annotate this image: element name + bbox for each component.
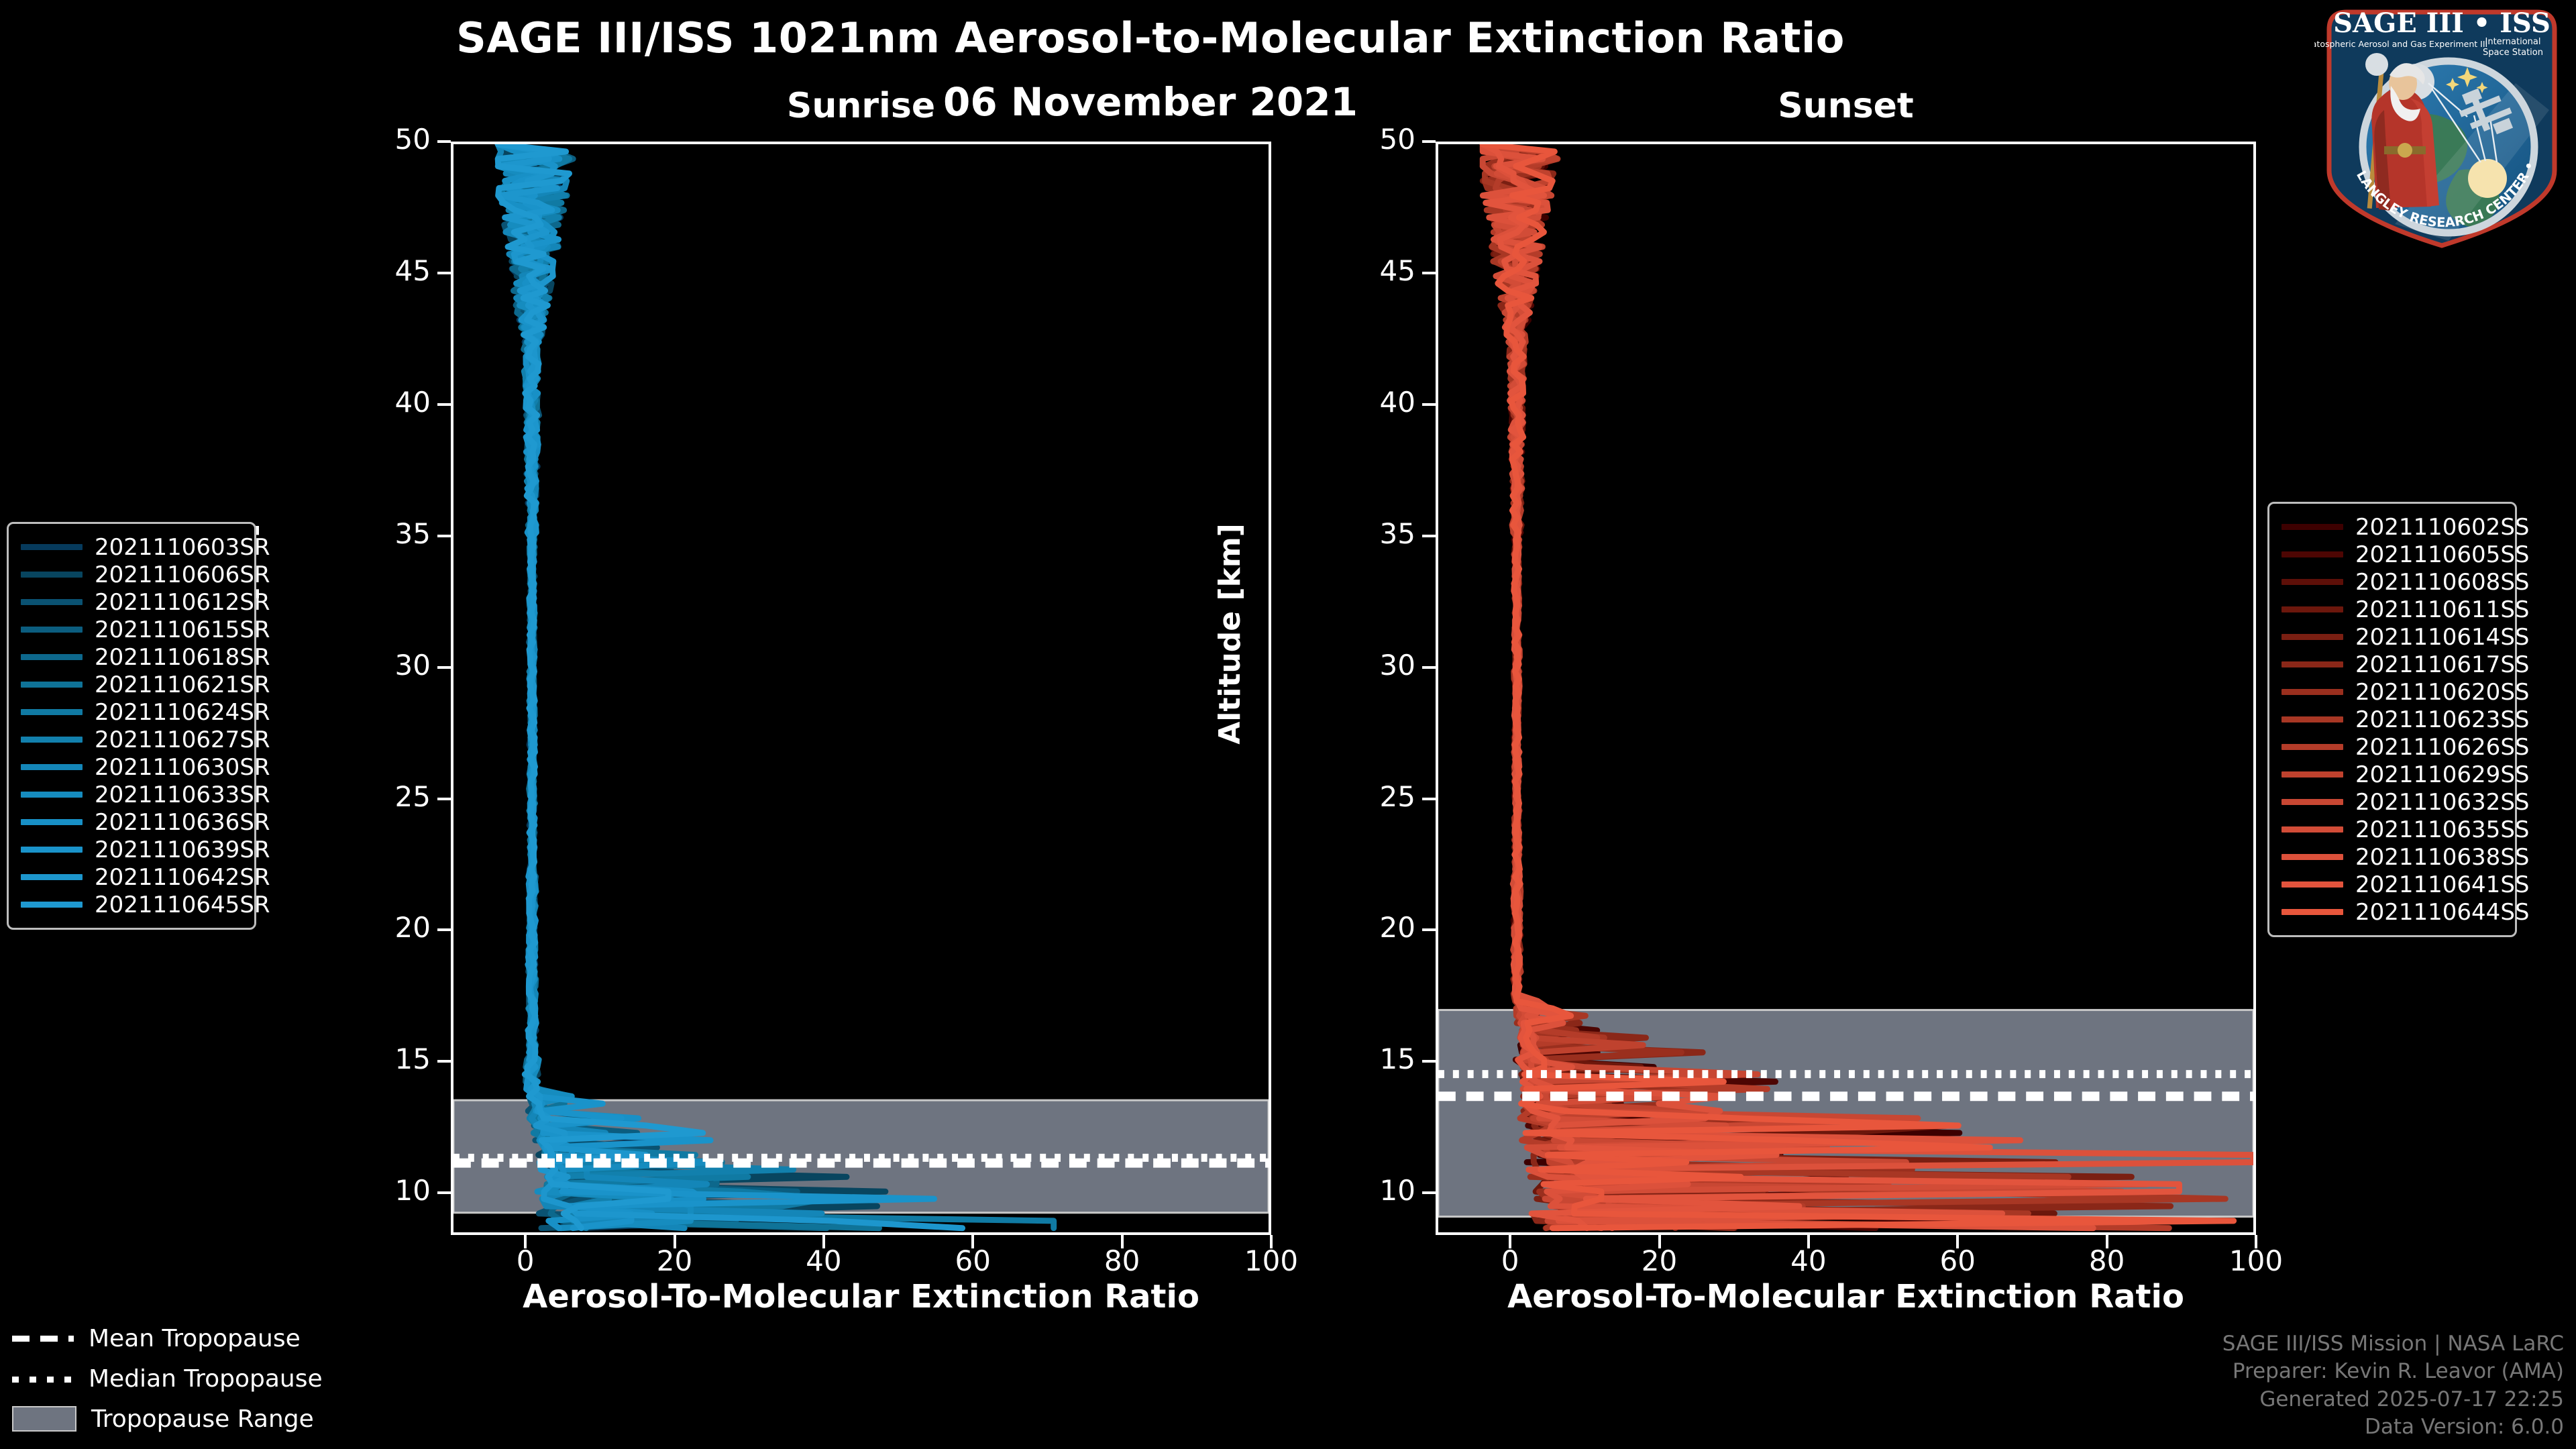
legend-item-label: 2021110629SS <box>2355 761 2529 788</box>
legend-item[interactable]: 2021110630SR <box>21 753 242 781</box>
sunrise-plot-panel <box>451 142 1271 1235</box>
legend-color-swatch <box>2282 716 2343 722</box>
sunset-profile-plot <box>1438 144 2253 1232</box>
legend-color-swatch <box>2282 524 2343 530</box>
x-axis-tick-label: 100 <box>2209 1244 2303 1277</box>
sage-iii-iss-logo: SAGE III • ISS Stratospheric Aerosol and… <box>2314 3 2569 252</box>
y-axis-tick-label: 40 <box>1335 386 1415 419</box>
y-axis-label-sunset: Altitude [km] <box>1213 506 1253 761</box>
x-axis-tick-mark <box>1956 1235 1959 1248</box>
y-axis-tick-label: 35 <box>350 517 431 550</box>
legend-item[interactable]: 2021110636SR <box>21 808 242 836</box>
y-axis-tick-label: 10 <box>1335 1174 1415 1207</box>
y-axis-tick-label: 45 <box>350 254 431 287</box>
y-axis-tick-mark <box>437 403 451 406</box>
legend-item[interactable]: 2021110644SS <box>2282 898 2503 926</box>
logo-subtitle-left: Stratospheric Aerosol and Gas Experiment… <box>2314 39 2487 49</box>
legend-item-label: 2021110608SS <box>2355 569 2529 596</box>
sunrise-panel-title: Sunrise <box>451 86 1271 126</box>
legend-item-label: 2021110642SR <box>95 864 270 891</box>
sunset-legend: 2021110602SS2021110605SS2021110608SS2021… <box>2267 502 2517 937</box>
legend-item[interactable]: 2021110615SR <box>21 616 242 643</box>
tropopause-key: Mean Tropopause Median Tropopause Tropop… <box>12 1318 323 1439</box>
legend-item-label: 2021110641SS <box>2355 871 2529 898</box>
legend-item-label: 2021110632SS <box>2355 789 2529 816</box>
legend-color-swatch <box>21 902 83 908</box>
dotted-line-icon <box>12 1370 74 1387</box>
profile-line <box>498 144 885 1228</box>
tropopause-key-mean: Mean Tropopause <box>12 1318 323 1358</box>
profile-line <box>498 144 962 1228</box>
median-tropopause-label: Median Tropopause <box>89 1365 323 1393</box>
credit-data-version: Data Version: 6.0.0 <box>2222 1413 2564 1441</box>
logo-subtitle-right-2: Space Station <box>2483 48 2543 58</box>
legend-item-label: 2021110636SR <box>95 809 270 836</box>
y-axis-tick-mark <box>437 140 451 143</box>
legend-item-label: 2021110627SR <box>95 727 270 753</box>
x-axis-tick-mark <box>971 1235 974 1248</box>
legend-color-swatch <box>21 654 83 660</box>
x-axis-tick-label: 0 <box>1463 1244 1557 1277</box>
legend-item-label: 2021110615SR <box>95 616 270 643</box>
legend-item[interactable]: 2021110635SS <box>2282 816 2503 843</box>
legend-item[interactable]: 2021110629SS <box>2282 761 2503 788</box>
legend-item-label: 2021110630SR <box>95 754 270 781</box>
y-axis-tick-mark <box>1422 140 1436 143</box>
legend-color-swatch <box>2282 771 2343 777</box>
legend-item[interactable]: 2021110632SS <box>2282 788 2503 816</box>
x-axis-tick-mark <box>1509 1235 1511 1248</box>
legend-color-swatch <box>21 737 83 743</box>
profile-line <box>498 144 934 1228</box>
y-axis-tick-label: 25 <box>350 780 431 813</box>
legend-item-label: 2021110621SR <box>95 672 270 698</box>
x-axis-tick-label: 80 <box>1075 1244 1169 1277</box>
y-axis-tick-mark <box>1422 1060 1436 1063</box>
x-axis-tick-mark <box>1807 1235 1810 1248</box>
sunset-plot-panel <box>1436 142 2256 1235</box>
x-axis-tick-label: 80 <box>2060 1244 2154 1277</box>
y-axis-tick-mark <box>437 798 451 800</box>
x-axis-tick-mark <box>1270 1235 1273 1248</box>
y-axis-tick-label: 35 <box>1335 517 1415 550</box>
logo-title: SAGE III • ISS <box>2333 7 2551 39</box>
legend-item-label: 2021110626SS <box>2355 734 2529 761</box>
y-axis-tick-mark <box>1422 403 1436 406</box>
page-title: SAGE III/ISS 1021nm Aerosol-to-Molecular… <box>0 13 2301 62</box>
legend-item-label: 2021110623SS <box>2355 706 2529 733</box>
x-axis-tick-mark <box>1121 1235 1124 1248</box>
sunset-panel-title: Sunset <box>1436 86 2256 126</box>
y-axis-tick-mark <box>1422 666 1436 669</box>
legend-item[interactable]: 2021110624SR <box>21 698 242 726</box>
y-axis-tick-mark <box>1422 798 1436 800</box>
legend-item[interactable]: 2021110617SS <box>2282 651 2503 678</box>
legend-item-label: 2021110612SR <box>95 589 270 616</box>
legend-color-swatch <box>21 874 83 880</box>
y-axis-tick-label: 30 <box>350 649 431 682</box>
legend-item-label: 2021110602SS <box>2355 514 2529 541</box>
y-axis-tick-label: 50 <box>350 123 431 156</box>
legend-item[interactable]: 2021110603SR <box>21 533 242 561</box>
legend-item[interactable]: 2021110626SS <box>2282 733 2503 761</box>
y-axis-tick-mark <box>437 272 451 274</box>
x-axis-tick-mark <box>822 1235 825 1248</box>
gray-band-icon <box>12 1406 76 1432</box>
legend-item[interactable]: 2021110618SR <box>21 643 242 671</box>
legend-item[interactable]: 2021110611SS <box>2282 596 2503 623</box>
legend-color-swatch <box>2282 661 2343 667</box>
logo-sun <box>2468 159 2507 198</box>
legend-item-label: 2021110645SR <box>95 892 270 918</box>
dashed-line-icon <box>12 1330 74 1347</box>
sunrise-legend: 2021110603SR2021110606SR2021110612SR2021… <box>7 522 256 930</box>
legend-item[interactable]: 2021110621SR <box>21 671 242 698</box>
legend-color-swatch <box>21 792 83 798</box>
legend-color-swatch <box>2282 909 2343 915</box>
legend-item[interactable]: 2021110612SR <box>21 588 242 616</box>
credit-mission: SAGE III/ISS Mission | NASA LaRC <box>2222 1330 2564 1358</box>
legend-item-label: 2021110605SS <box>2355 541 2529 568</box>
legend-item[interactable]: 2021110623SS <box>2282 706 2503 733</box>
y-axis-tick-label: 45 <box>1335 254 1415 287</box>
tropopause-key-range: Tropopause Range <box>12 1399 323 1439</box>
legend-color-swatch <box>2282 579 2343 585</box>
y-axis-tick-mark <box>1422 928 1436 931</box>
sunrise-profile-plot <box>453 144 1269 1232</box>
legend-item-label: 2021110606SR <box>95 561 270 588</box>
credit-generated: Generated 2025-07-17 22:25 <box>2222 1386 2564 1413</box>
x-axis-tick-label: 100 <box>1224 1244 1318 1277</box>
legend-item-label: 2021110644SS <box>2355 899 2529 926</box>
legend-color-swatch <box>2282 551 2343 557</box>
legend-color-swatch <box>2282 799 2343 805</box>
x-axis-tick-mark <box>524 1235 527 1248</box>
legend-color-swatch <box>2282 689 2343 695</box>
y-axis-tick-mark <box>1422 1191 1436 1194</box>
mean-tropopause-label: Mean Tropopause <box>89 1325 301 1352</box>
legend-item-label: 2021110618SR <box>95 644 270 671</box>
legend-color-swatch <box>21 764 83 770</box>
legend-color-swatch <box>21 627 83 633</box>
legend-item[interactable]: 2021110641SS <box>2282 871 2503 898</box>
legend-color-swatch <box>21 819 83 825</box>
x-axis-tick-label: 40 <box>777 1244 871 1277</box>
legend-color-swatch <box>2282 881 2343 888</box>
x-axis-tick-label: 0 <box>478 1244 572 1277</box>
profile-line <box>498 144 879 1228</box>
x-axis-tick-label: 20 <box>628 1244 722 1277</box>
x-axis-tick-mark <box>2106 1235 2108 1248</box>
legend-color-swatch <box>21 847 83 853</box>
x-axis-tick-label: 60 <box>1911 1244 2004 1277</box>
x-axis-tick-mark <box>674 1235 676 1248</box>
legend-item[interactable]: 2021110602SS <box>2282 513 2503 541</box>
legend-color-swatch <box>21 709 83 715</box>
y-axis-tick-label: 20 <box>350 911 431 944</box>
y-axis-tick-mark <box>437 535 451 537</box>
y-axis-tick-label: 50 <box>1335 123 1415 156</box>
legend-color-swatch <box>2282 826 2343 833</box>
tropopause-key-median: Median Tropopause <box>12 1358 323 1399</box>
y-axis-tick-mark <box>1422 535 1436 537</box>
x-axis-tick-label: 60 <box>926 1244 1020 1277</box>
legend-item[interactable]: 2021110627SR <box>21 726 242 753</box>
x-axis-label-sunrise: Aerosol-To-Molecular Extinction Ratio <box>451 1278 1271 1316</box>
profile-line <box>498 144 1053 1228</box>
credits-block: SAGE III/ISS Mission | NASA LaRC Prepare… <box>2222 1330 2564 1441</box>
x-axis-tick-label: 20 <box>1613 1244 1707 1277</box>
legend-item[interactable]: 2021110620SS <box>2282 678 2503 706</box>
legend-item[interactable]: 2021110639SR <box>21 836 242 863</box>
legend-item-label: 2021110635SS <box>2355 816 2529 843</box>
legend-item[interactable]: 2021110614SS <box>2282 623 2503 651</box>
credit-preparer: Preparer: Kevin R. Leavor (AMA) <box>2222 1358 2564 1385</box>
legend-item[interactable]: 2021110638SS <box>2282 843 2503 871</box>
legend-item[interactable]: 2021110608SS <box>2282 568 2503 596</box>
y-axis-tick-mark <box>437 666 451 669</box>
legend-color-swatch <box>2282 744 2343 750</box>
legend-item-label: 2021110639SR <box>95 837 270 863</box>
legend-color-swatch <box>21 544 83 550</box>
y-axis-tick-label: 40 <box>350 386 431 419</box>
legend-color-swatch <box>21 599 83 605</box>
logo-subtitle-right-1: International <box>2485 37 2541 47</box>
legend-item[interactable]: 2021110633SR <box>21 781 242 808</box>
legend-item[interactable]: 2021110605SS <box>2282 541 2503 568</box>
legend-item[interactable]: 2021110642SR <box>21 863 242 891</box>
y-axis-tick-label: 20 <box>1335 911 1415 944</box>
legend-color-swatch <box>2282 634 2343 640</box>
tropopause-range-label: Tropopause Range <box>91 1405 314 1433</box>
legend-item[interactable]: 2021110645SR <box>21 891 242 918</box>
y-axis-tick-mark <box>437 1060 451 1063</box>
x-axis-tick-mark <box>2255 1235 2257 1248</box>
legend-item-label: 2021110603SR <box>95 534 270 561</box>
y-axis-tick-label: 30 <box>1335 649 1415 682</box>
y-axis-tick-label: 15 <box>350 1042 431 1075</box>
legend-color-swatch <box>21 682 83 688</box>
legend-item[interactable]: 2021110606SR <box>21 561 242 588</box>
legend-color-swatch <box>21 572 83 578</box>
legend-item-label: 2021110611SS <box>2355 596 2529 623</box>
legend-item-label: 2021110617SS <box>2355 651 2529 678</box>
legend-item-label: 2021110638SS <box>2355 844 2529 871</box>
y-axis-tick-label: 25 <box>1335 780 1415 813</box>
legend-color-swatch <box>2282 854 2343 860</box>
legend-item-label: 2021110620SS <box>2355 679 2529 706</box>
legend-item-label: 2021110624SR <box>95 699 270 726</box>
x-axis-tick-label: 40 <box>1762 1244 1856 1277</box>
y-axis-tick-mark <box>437 1191 451 1194</box>
x-axis-label-sunset: Aerosol-To-Molecular Extinction Ratio <box>1436 1278 2256 1316</box>
y-axis-tick-label: 15 <box>1335 1042 1415 1075</box>
y-axis-tick-label: 10 <box>350 1174 431 1207</box>
legend-color-swatch <box>2282 606 2343 612</box>
y-axis-tick-mark <box>437 928 451 931</box>
y-axis-tick-mark <box>1422 272 1436 274</box>
x-axis-tick-mark <box>1658 1235 1661 1248</box>
legend-item-label: 2021110614SS <box>2355 624 2529 651</box>
legend-item-label: 2021110633SR <box>95 782 270 808</box>
